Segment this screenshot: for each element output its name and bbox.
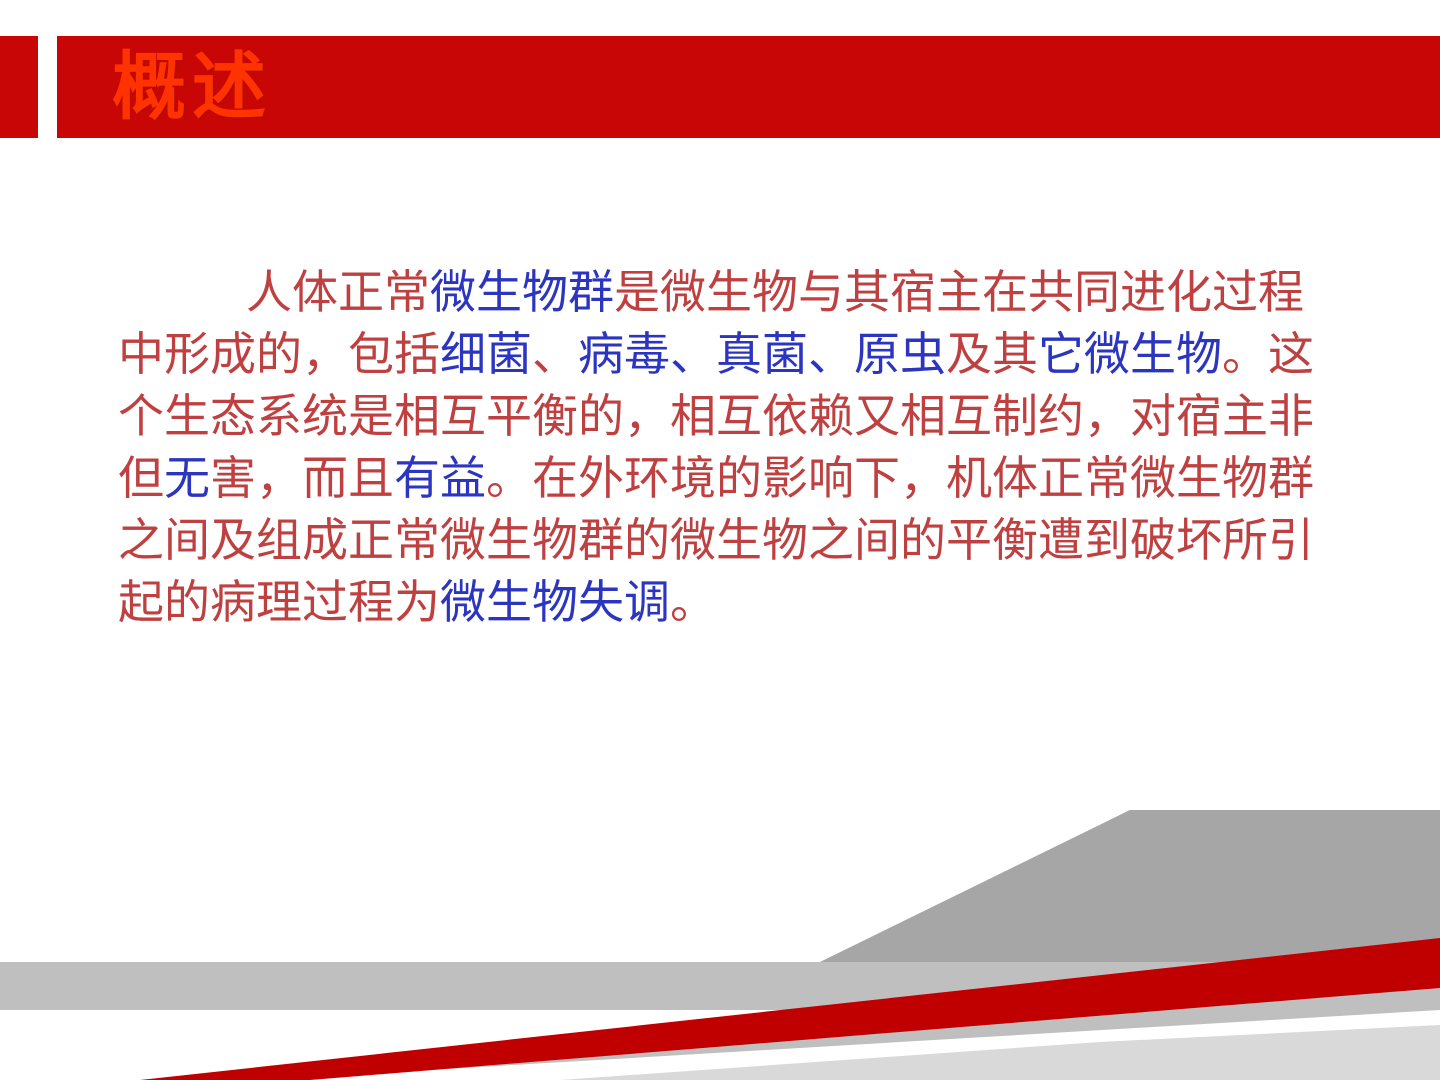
body-text-segment: 个生态系统是相互平衡的，相互依赖又相互制约，对宿主非 xyxy=(118,391,1314,442)
body-text-segment: 有益 xyxy=(394,453,486,504)
deco-gray-horizontal-bar xyxy=(0,962,1440,1010)
body-text-segment: 、 xyxy=(532,329,578,380)
deco-gray-diagonal-upper xyxy=(820,810,1440,965)
body-line: 起的病理过程为微生物失调。 xyxy=(118,572,1392,634)
body-text-segment: 细菌 xyxy=(440,329,532,380)
deco-gray-wedge xyxy=(820,810,1440,962)
body-text-segment: 。在外环境的影响下，机体正常微生物群 xyxy=(486,453,1314,504)
deco-gray-wedge-lower xyxy=(150,980,1440,1080)
body-text-segment: 及其 xyxy=(946,329,1038,380)
body-text-segment: 但 xyxy=(118,453,164,504)
slide-canvas: 概述 人体正常微生物群是微生物与其宿主在共同进化过程中形成的，包括细菌、病毒、真… xyxy=(0,0,1440,1080)
body-text-segment: 是微生物与其宿主在共同进化过程 xyxy=(614,267,1304,318)
body-text-segment: 它微生物 xyxy=(1038,329,1222,380)
body-text-segment: 微生物群 xyxy=(430,267,614,318)
body-text-segment: 人体正常 xyxy=(246,267,430,318)
deco-gray-light-band-2 xyxy=(880,1060,1440,1080)
body-text-segment: 病毒、真菌、原虫 xyxy=(578,329,946,380)
body-line: 个生态系统是相互平衡的，相互依赖又相互制约，对宿主非 xyxy=(118,386,1392,448)
body-paragraph: 人体正常微生物群是微生物与其宿主在共同进化过程中形成的，包括细菌、病毒、真菌、原… xyxy=(118,262,1392,634)
body-text-segment: 中形成的，包括 xyxy=(118,329,440,380)
body-text-segment: 无 xyxy=(164,453,210,504)
body-text-segment: 起的病理过程为 xyxy=(118,577,440,628)
deco-gray-light-band xyxy=(560,1025,1440,1080)
body-line: 之间及组成正常微生物群的微生物之间的平衡遭到破坏所引 xyxy=(118,510,1392,572)
bottom-decoration xyxy=(0,810,1440,1080)
body-text-segment: 之间及组成正常微生物群的微生物之间的平衡遭到破坏所引 xyxy=(118,515,1314,566)
body-text-segment: 。 xyxy=(670,577,716,628)
bottom-decoration-shapes xyxy=(0,810,1440,1080)
body-text-segment: 害，而且 xyxy=(210,453,394,504)
body-text-segment: 微生物失调 xyxy=(440,577,670,628)
page-title: 概述 xyxy=(112,36,272,138)
deco-red-diagonal xyxy=(140,938,1440,1080)
header-notch-divider xyxy=(38,36,57,138)
body-line: 中形成的，包括细菌、病毒、真菌、原虫及其它微生物。这 xyxy=(118,324,1392,386)
body-text-segment: 。这 xyxy=(1222,329,1314,380)
body-line: 人体正常微生物群是微生物与其宿主在共同进化过程 xyxy=(118,262,1392,324)
body-line: 但无害，而且有益。在外环境的影响下，机体正常微生物群 xyxy=(118,448,1392,510)
